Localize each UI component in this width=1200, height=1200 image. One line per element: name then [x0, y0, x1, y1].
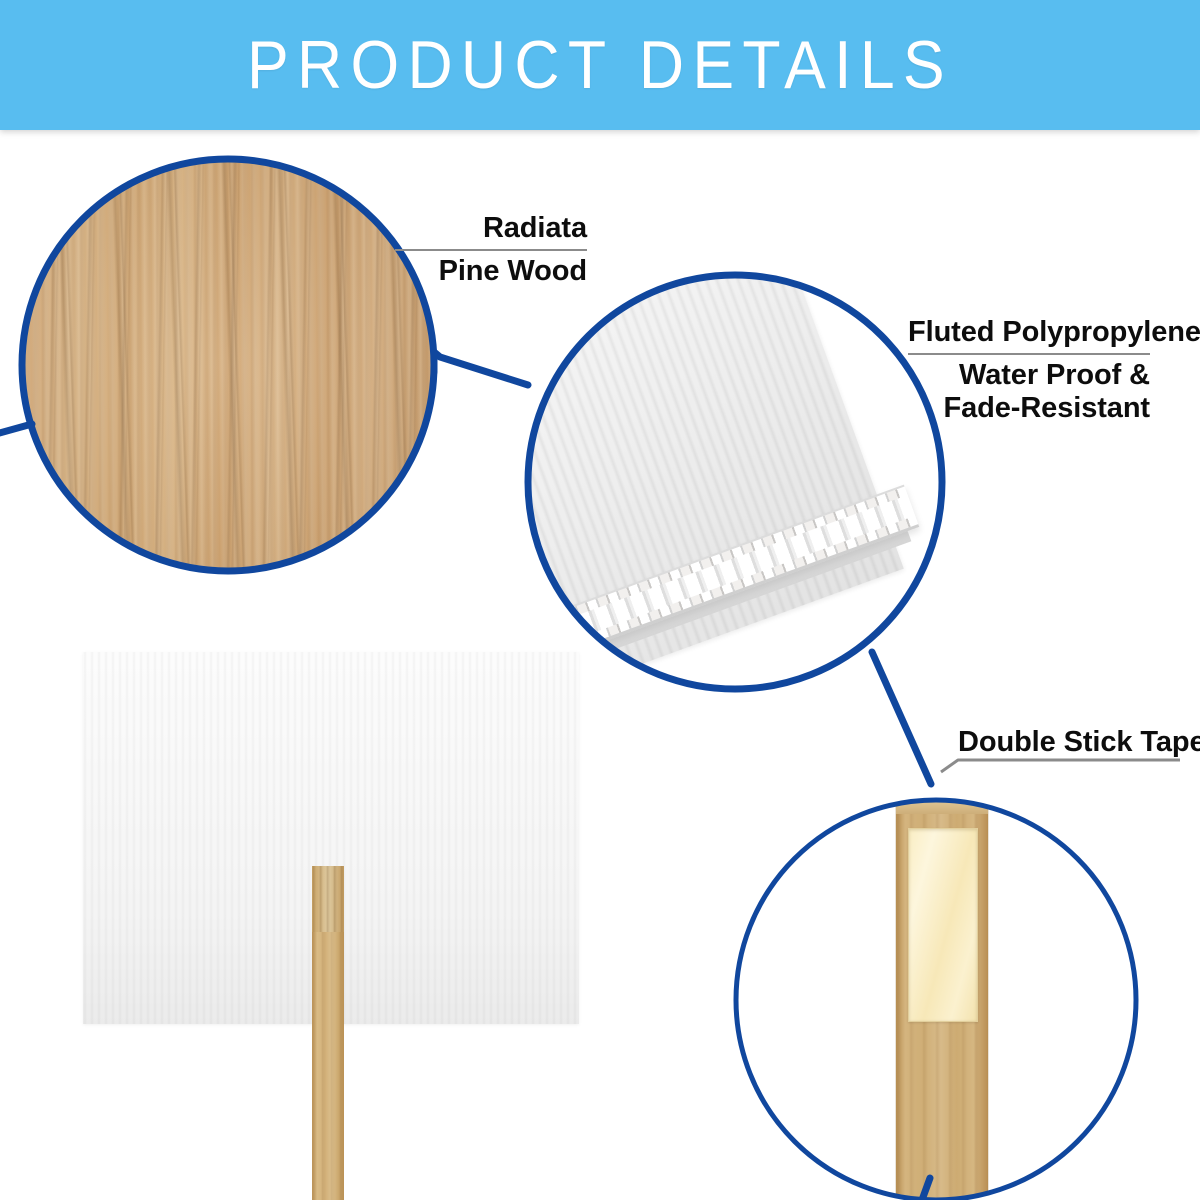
product-wooden-stake-head — [312, 866, 344, 932]
callout-double-stick-tape: Double Stick Tape — [958, 726, 1178, 759]
page-title: PRODUCT DETAILS — [48, 0, 1152, 130]
stake-closeup-top — [896, 800, 988, 814]
callout-poly-title: Fluted Polypropylene — [908, 316, 1150, 349]
callout-poly-rule — [908, 353, 1150, 355]
double-stick-tape-patch — [908, 828, 978, 1022]
callout-tape-title: Double Stick Tape — [958, 726, 1178, 759]
double-stick-tape-detail-photo — [736, 800, 1136, 1200]
callout-wood-title: Radiata — [395, 212, 587, 245]
callout-wood-rule — [395, 249, 587, 251]
header-banner: PRODUCT DETAILS — [0, 0, 1200, 130]
connector-wood-to-poly — [434, 352, 528, 385]
callout-radiata-pine-wood: Radiata Pine Wood — [395, 212, 587, 288]
wood-grain-detail-photo — [22, 159, 434, 571]
callout-fluted-polypropylene: Fluted Polypropylene Water Proof & Fade-… — [908, 316, 1150, 424]
callout-wood-subtitle: Pine Wood — [395, 255, 587, 288]
leader-line-double-stick-tape — [941, 760, 1180, 772]
callout-poly-subtitle-line1: Water Proof & — [908, 359, 1150, 392]
fluted-polypropylene-detail-photo — [528, 275, 942, 689]
product-details-infographic: PRODUCT DETAILS — [0, 0, 1200, 1200]
callout-poly-subtitle-line2: Fade-Resistant — [908, 392, 1150, 425]
connector-poly-to-tape — [872, 652, 931, 784]
